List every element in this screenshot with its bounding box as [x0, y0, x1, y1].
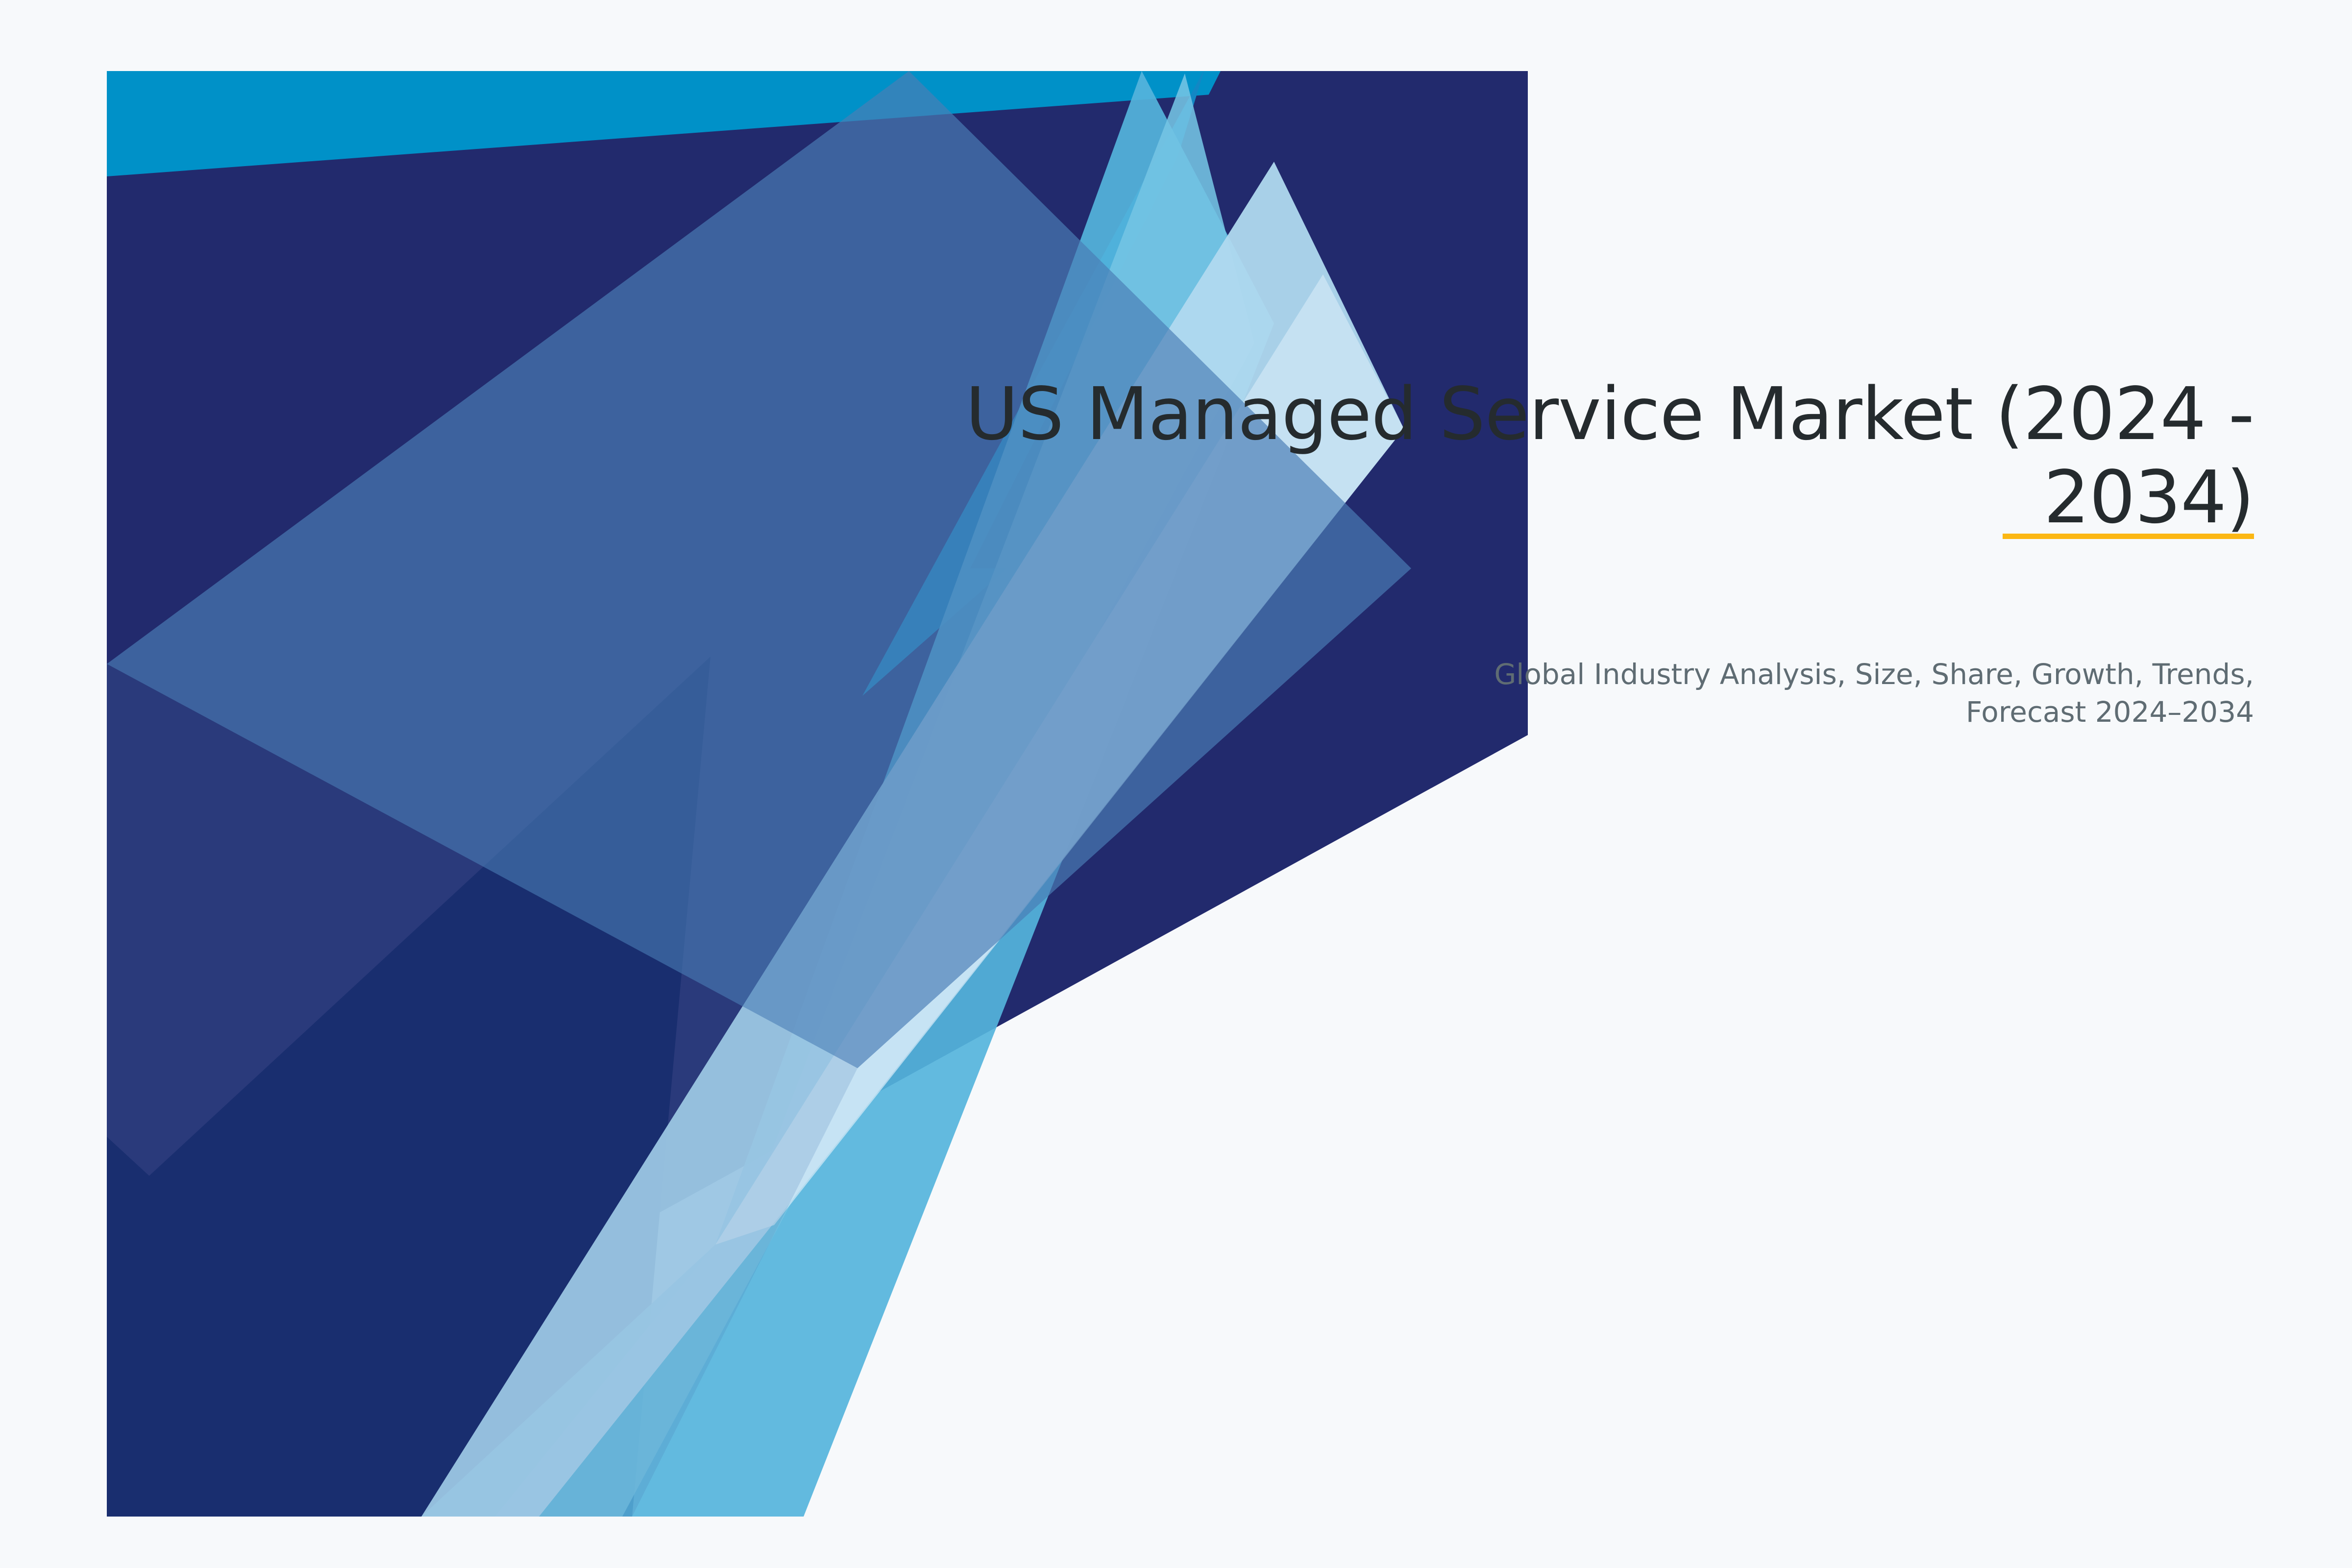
page-subtitle: Global Industry Analysis, Size, Share, G…	[1372, 656, 2254, 731]
title-slide: US Managed Service Market (2024 - 2034) …	[0, 0, 2352, 1568]
abstract-geometric-cover-graphic	[0, 0, 2352, 1568]
page-title: US Managed Service Market (2024 - 2034)	[764, 372, 2254, 539]
title-accent-rule	[2003, 534, 2254, 539]
title-block: US Managed Service Market (2024 - 2034)	[764, 372, 2254, 539]
